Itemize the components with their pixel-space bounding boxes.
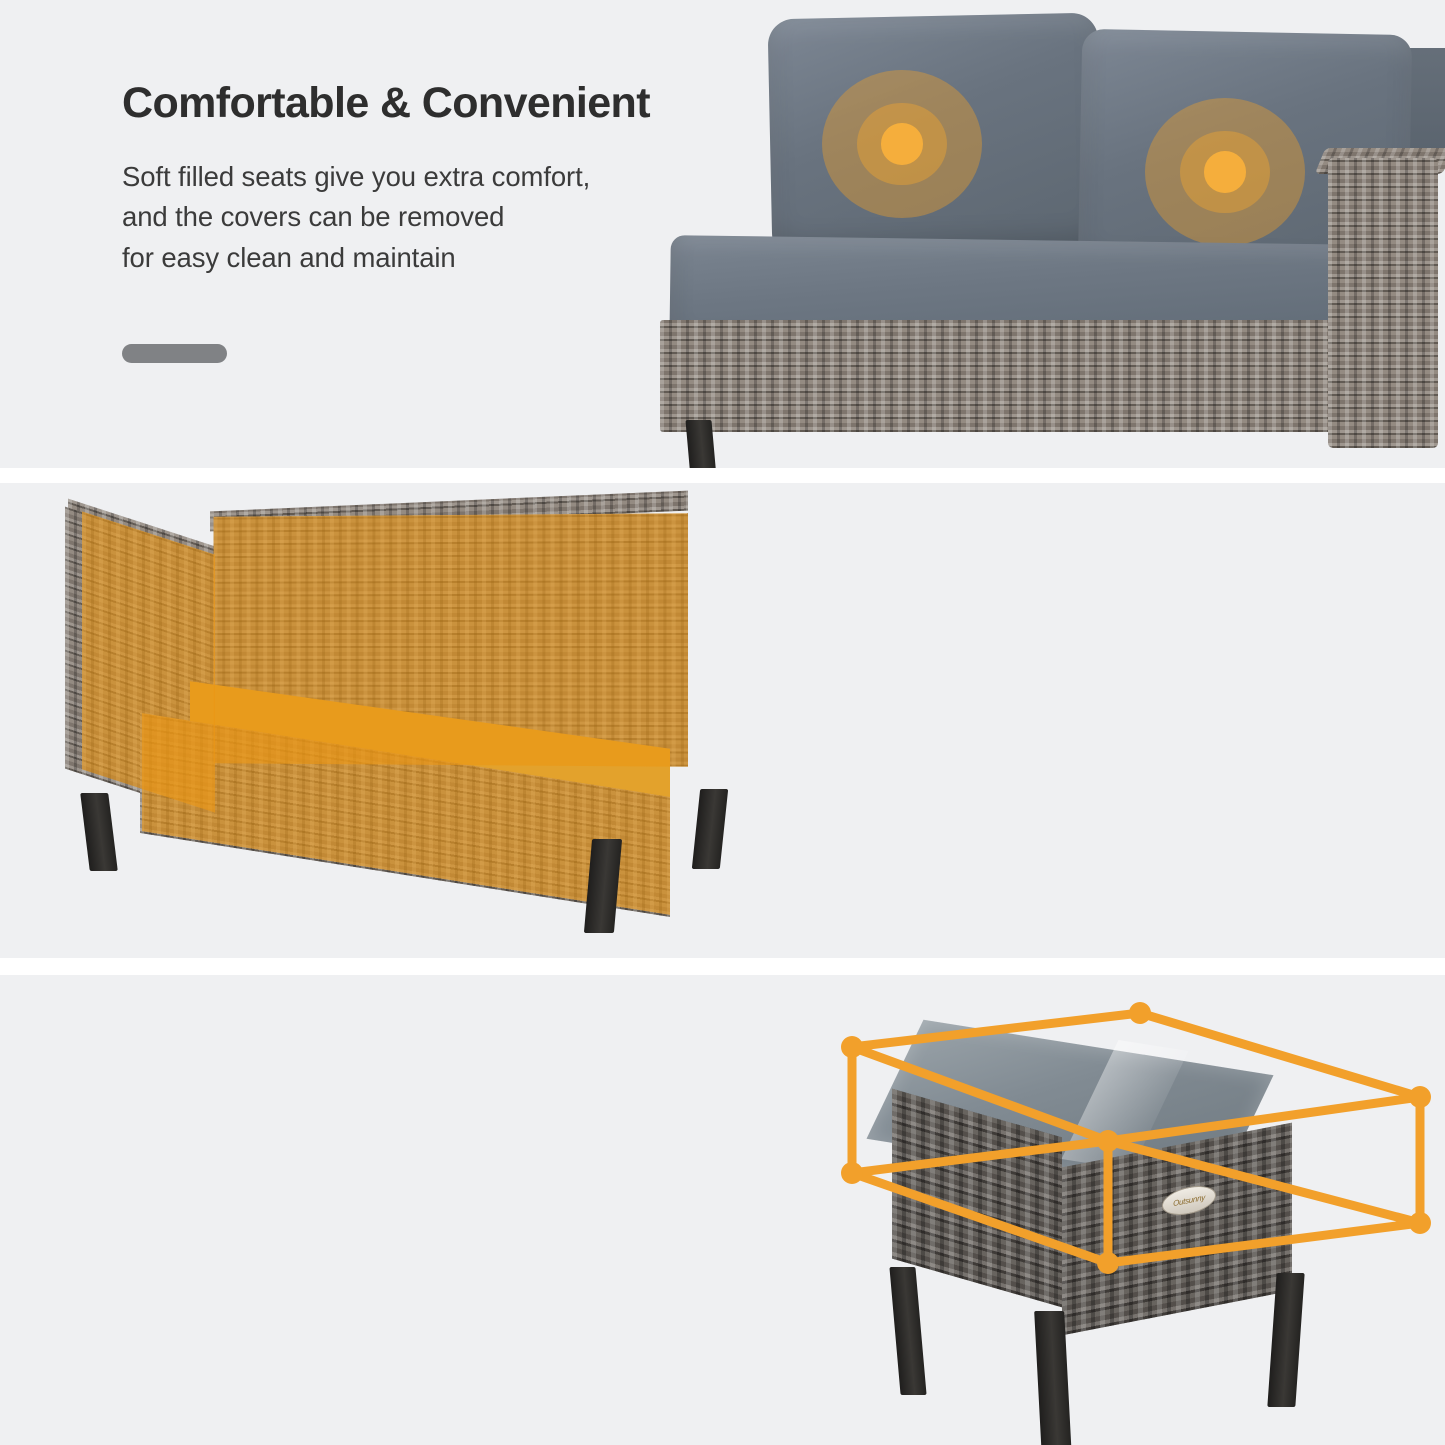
feature-text-block-1: Comfortable & Convenient Soft filled sea… bbox=[122, 80, 650, 363]
sofa-wicker-base bbox=[660, 320, 1350, 432]
feature-body-line: for easy clean and maintain bbox=[122, 238, 650, 278]
feature-body: Soft filled seats give you extra comfort… bbox=[122, 157, 650, 277]
wireframe-dot bbox=[1097, 1130, 1119, 1152]
panel-divider bbox=[0, 958, 1445, 975]
frame-leg bbox=[80, 793, 118, 871]
sofa-with-cushions-image bbox=[660, 0, 1445, 468]
frame-leg bbox=[692, 789, 728, 869]
feature-panel-easy-quick-assemble: Easy & Quick Assemble Assemble easily an… bbox=[0, 483, 1445, 958]
wireframe-bottom-diagonal bbox=[852, 1141, 1420, 1223]
coffee-table-image: Outsunny bbox=[840, 1005, 1430, 1405]
wireframe-dot bbox=[841, 1036, 863, 1058]
panel-divider bbox=[0, 468, 1445, 483]
sofa-leg bbox=[685, 420, 716, 468]
feature-body-line: and the covers can be removed bbox=[122, 197, 650, 237]
feature-title: Comfortable & Convenient bbox=[122, 80, 650, 127]
accent-pill-divider bbox=[122, 344, 227, 363]
wireframe-bottom-face bbox=[852, 1173, 1420, 1263]
comfort-marker-core bbox=[1204, 151, 1246, 192]
comfort-target-marker-left bbox=[822, 70, 982, 218]
sofa-frame-image bbox=[30, 493, 800, 943]
product-feature-infographic: Comfortable & Convenient Soft filled sea… bbox=[0, 0, 1445, 1445]
assemble-highlight-back bbox=[214, 513, 688, 767]
wireframe-dot bbox=[1409, 1086, 1431, 1108]
durability-wireframe-overlay bbox=[840, 1005, 1430, 1405]
wireframe-dot bbox=[1409, 1212, 1431, 1234]
wireframe-dot bbox=[1097, 1252, 1119, 1274]
feature-panel-comfortable-convenient: Comfortable & Convenient Soft filled sea… bbox=[0, 0, 1445, 468]
sofa-armrest bbox=[1328, 158, 1438, 448]
feature-body-line: Soft filled seats give you extra comfort… bbox=[122, 157, 650, 197]
wireframe-dot bbox=[1129, 1002, 1151, 1024]
comfort-target-marker-right bbox=[1145, 98, 1305, 246]
feature-panel-sturdy-durable: Sturdy & Durable Made of All-weather PE … bbox=[0, 975, 1445, 1445]
wireframe-top-face bbox=[852, 1013, 1420, 1141]
comfort-marker-core bbox=[881, 123, 923, 164]
wireframe-dot bbox=[841, 1162, 863, 1184]
